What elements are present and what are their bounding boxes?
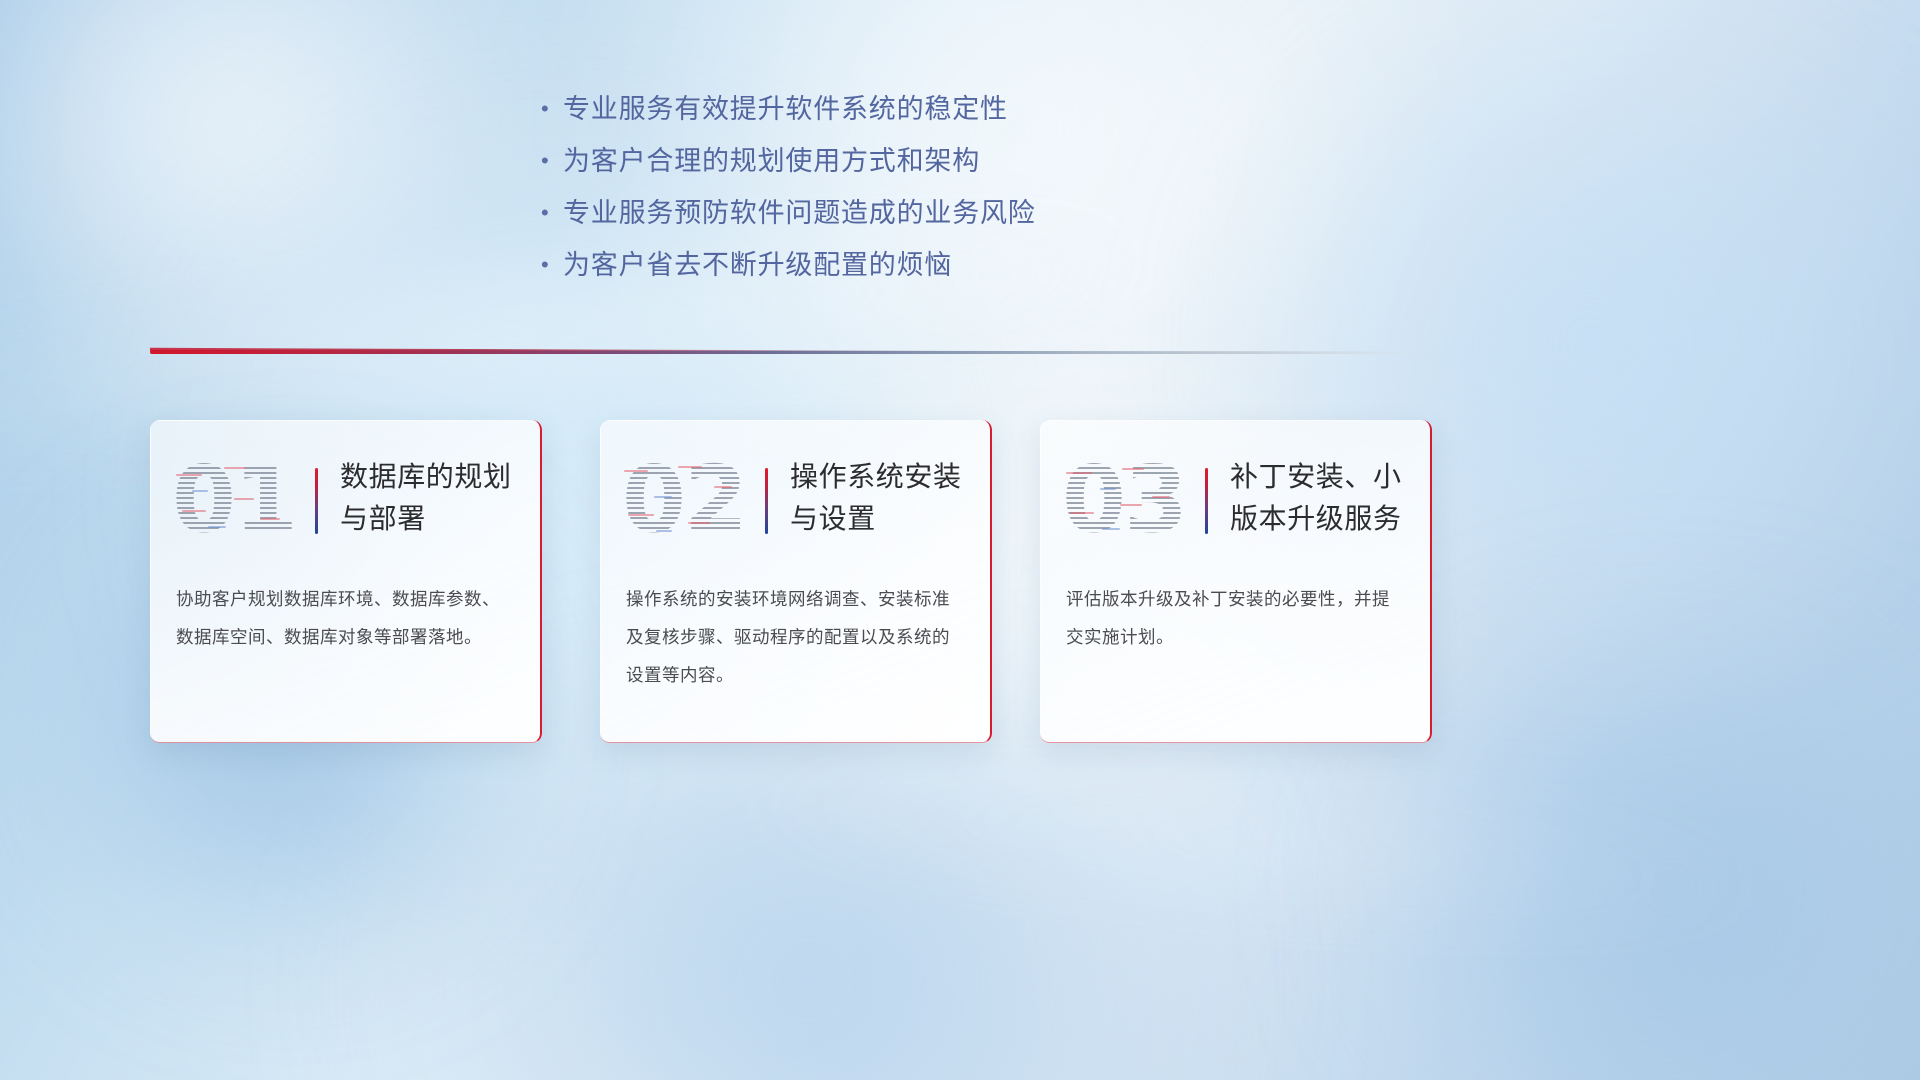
card-number-badge: 02 [618, 452, 750, 548]
service-card[interactable]: 03 补丁安装、小版本升级服务 评估版本升级及补丁安装的必要性，并提交实施计划。 [1040, 420, 1432, 743]
card-header: 03 补丁安装、小版本升级服务 [1040, 434, 1430, 564]
card-description: 评估版本升级及补丁安装的必要性，并提交实施计划。 [1066, 580, 1406, 656]
card-header: 01 数据库的规划与部署 [150, 434, 540, 564]
service-card[interactable]: 01 数据库的规划与部署 协助客户规划数据库环境、数据库参数、数据库空间、数据库… [150, 420, 542, 743]
card-title: 数据库的规划与部署 [340, 456, 530, 540]
card-number: 03 [1062, 452, 1186, 548]
bullet-text: 为客户合理的规划使用方式和架构 [563, 138, 980, 184]
card-header: 02 操作系统安装与设置 [600, 434, 990, 564]
card-description: 操作系统的安装环境网络调查、安装标准及复核步骤、驱动程序的配置以及系统的设置等内… [626, 580, 966, 694]
card-number: 01 [172, 452, 296, 548]
card-description: 协助客户规划数据库环境、数据库参数、数据库空间、数据库对象等部署落地。 [176, 580, 516, 656]
card-number-badge: 01 [168, 452, 300, 548]
list-item: • 为客户省去不断升级配置的烦恼 [533, 242, 1433, 294]
card-accent-bar [315, 468, 318, 534]
bullet-marker-icon: • [533, 190, 563, 236]
bullet-marker-icon: • [533, 138, 563, 184]
card-accent-bar [765, 468, 768, 534]
bullet-text: 专业服务有效提升软件系统的稳定性 [563, 86, 1008, 132]
list-item: • 为客户合理的规划使用方式和架构 [533, 138, 1433, 190]
section-divider [150, 347, 1450, 359]
service-card-group: 01 数据库的规划与部署 协助客户规划数据库环境、数据库参数、数据库空间、数据库… [150, 420, 1770, 750]
card-number-badge: 03 [1058, 452, 1190, 548]
list-item: • 专业服务预防软件问题造成的业务风险 [533, 190, 1433, 242]
divider-line-highlight [150, 347, 982, 351]
bullet-marker-icon: • [533, 242, 563, 288]
list-item: • 专业服务有效提升软件系统的稳定性 [533, 86, 1433, 138]
card-accent-bar [1205, 468, 1208, 534]
bullet-text: 为客户省去不断升级配置的烦恼 [563, 242, 952, 288]
bullet-text: 专业服务预防软件问题造成的业务风险 [563, 190, 1036, 236]
service-card[interactable]: 02 操作系统安装与设置 操作系统的安装环境网络调查、安装标准及复核步骤、驱动程… [600, 420, 992, 743]
card-title: 操作系统安装与设置 [790, 456, 980, 540]
benefits-bullet-list: • 专业服务有效提升软件系统的稳定性 • 为客户合理的规划使用方式和架构 • 专… [533, 86, 1433, 294]
card-title: 补丁安装、小版本升级服务 [1230, 456, 1420, 540]
card-number: 02 [622, 452, 746, 548]
bullet-marker-icon: • [533, 86, 563, 132]
